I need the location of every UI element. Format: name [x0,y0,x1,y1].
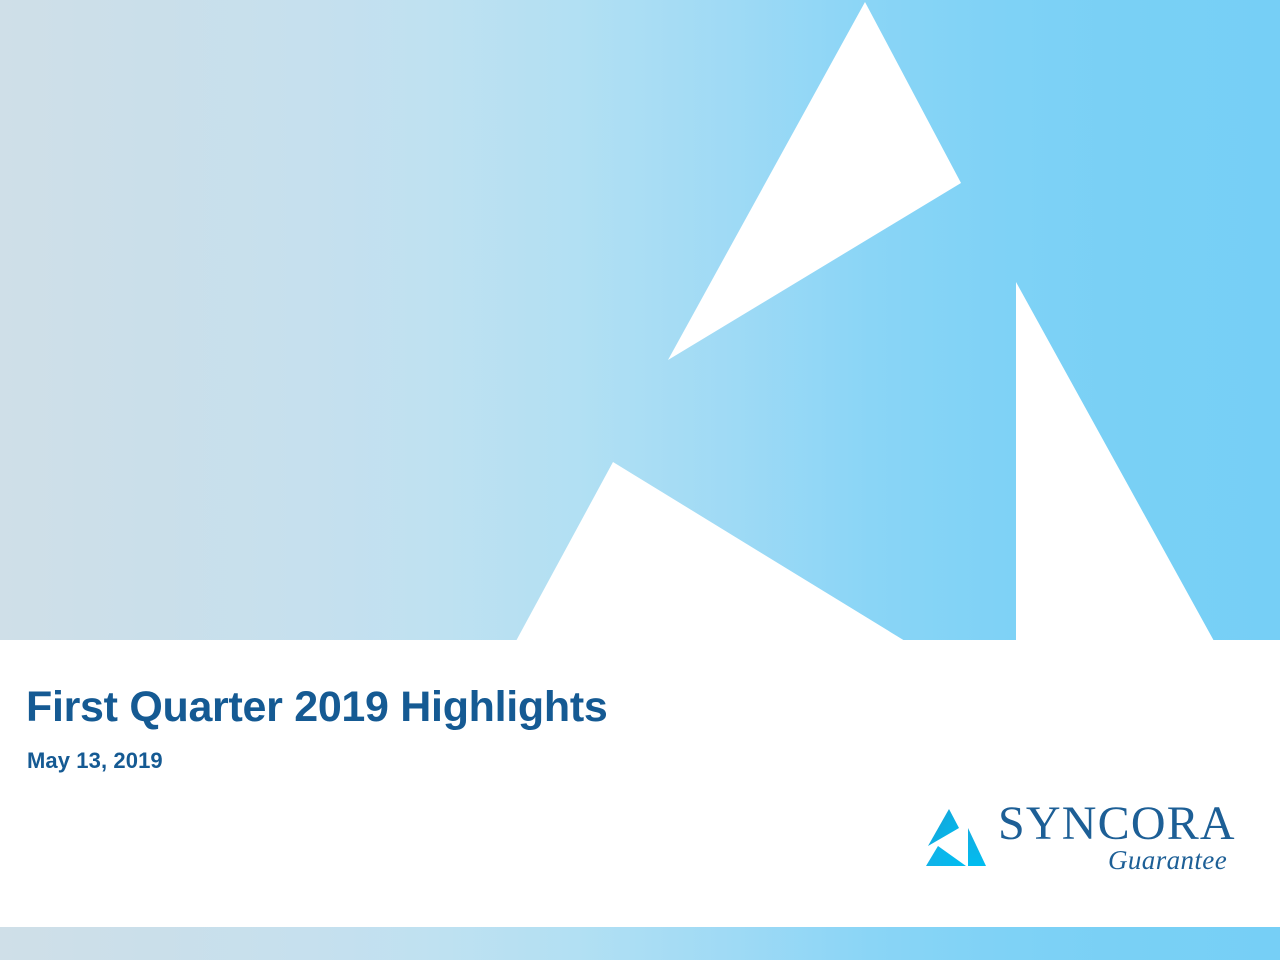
syncora-logo: SYNCORA Guarantee [922,800,1222,886]
hero-triangle-right [1016,282,1214,640]
syncora-triangles-mark-icon [922,806,988,868]
presentation-slide: First Quarter 2019 Highlights May 13, 20… [0,0,1280,960]
slide-date: May 13, 2019 [27,748,163,774]
hero-banner [0,0,1280,640]
hero-triangle-lower-left [516,462,905,640]
logo-wordmark: SYNCORA [998,800,1236,848]
logo-tagline: Guarantee [1108,847,1227,874]
hero-triangles-graphic [0,0,1280,640]
page-title: First Quarter 2019 Highlights [26,685,608,730]
footer-gradient-band [0,927,1280,960]
mark-triangle-lower-left [926,846,966,866]
mark-triangle-upper [928,809,959,846]
mark-triangle-right [968,828,986,866]
hero-triangle-upper [668,2,961,360]
